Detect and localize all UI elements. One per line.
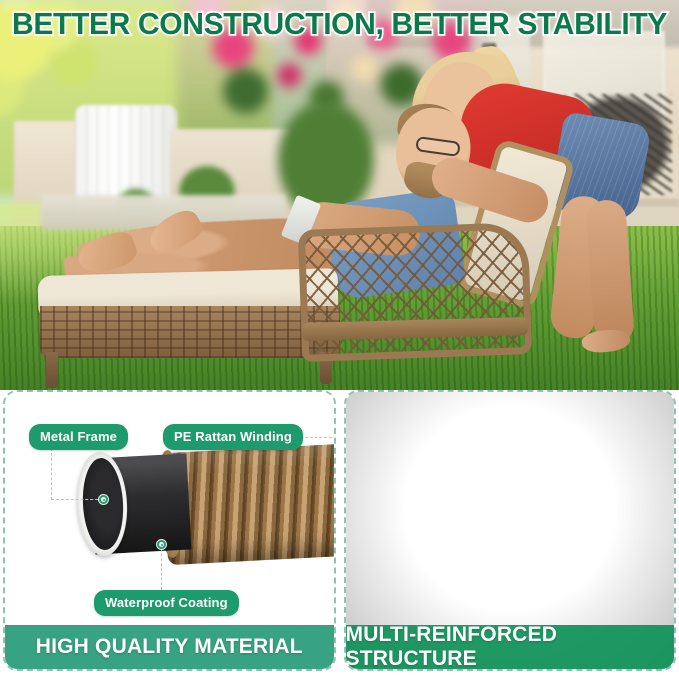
chaise-woven-base (40, 306, 340, 358)
leader-line-pe-horizontal (305, 437, 336, 438)
chaise-leg-left (46, 352, 58, 388)
chaise-lattice-back (298, 222, 532, 362)
panel-high-quality-material: Metal Frame PE Rattan Winding Waterproof… (3, 390, 336, 671)
callout-label-metal-frame: Metal Frame (29, 424, 128, 450)
callout-label-pe-rattan-winding: PE Rattan Winding (163, 424, 303, 450)
panel-footer-multi-reinforced-structure: MULTI-REINFORCED STRUCTURE (346, 625, 675, 669)
page-title: BETTER CONSTRUCTION, BETTER STABILITY (10, 6, 669, 42)
leader-line-metal-vertical (51, 448, 52, 500)
callout-marker-metal-frame (99, 495, 108, 504)
panel-multi-reinforced-structure: MULTI-REINFORCED STRUCTURE (344, 390, 677, 671)
callout-label-waterproof-coating: Waterproof Coating (94, 590, 239, 616)
panel-footer-high-quality-material: HIGH QUALITY MATERIAL (5, 625, 334, 669)
product-feature-image: BETTER CONSTRUCTION, BETTER STABILITY Me… (0, 0, 679, 675)
leader-line-waterproof-vertical (161, 544, 162, 590)
callout-marker-waterproof-coating (157, 540, 166, 549)
feature-panels: Metal Frame PE Rattan Winding Waterproof… (0, 390, 679, 675)
leader-line-metal-horizontal (51, 499, 103, 500)
hero-photo: BETTER CONSTRUCTION, BETTER STABILITY (0, 0, 679, 390)
